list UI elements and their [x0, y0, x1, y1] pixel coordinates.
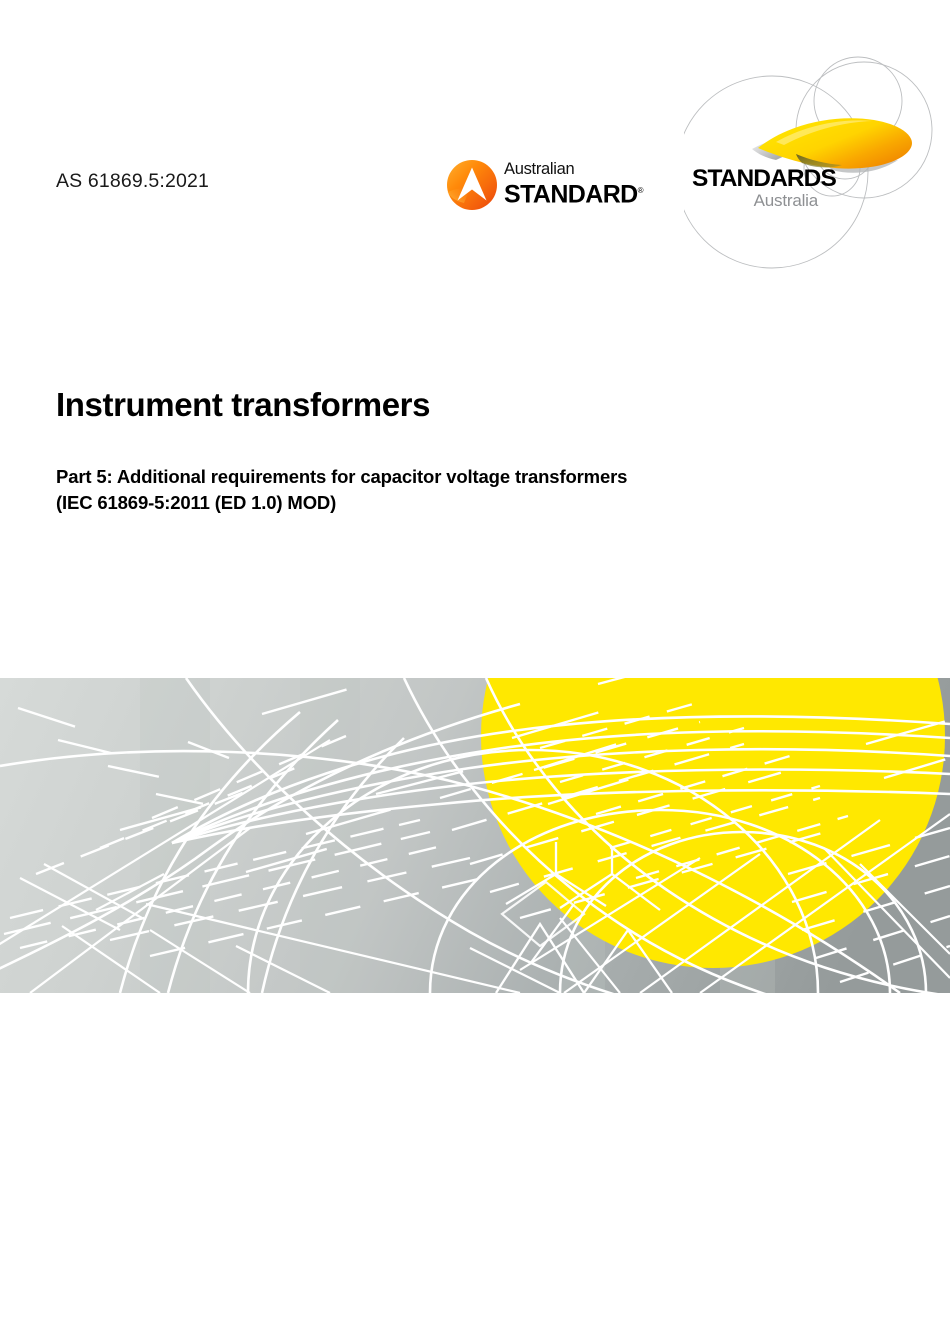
- page-title: Instrument transformers: [56, 386, 896, 424]
- standards-australia-word-top: STANDARDS: [692, 166, 832, 191]
- page-subtitle: Part 5: Additional requirements for capa…: [56, 424, 896, 516]
- page-header: AS 61869.5:2021: [0, 0, 950, 300]
- australian-standard-logo: Australian STANDARD®: [446, 159, 636, 213]
- banner-graphic-icon: [0, 678, 950, 993]
- standards-australia-logo: STANDARDS Australia: [684, 48, 950, 288]
- standards-australia-wordmark: STANDARDS Australia: [692, 166, 832, 210]
- cover-page: AS 61869.5:2021: [0, 0, 950, 1344]
- australian-standard-wordmark: Australian STANDARD®: [504, 160, 636, 207]
- australian-standard-roundel-icon: [446, 159, 498, 211]
- australian-standard-word-top: Australian: [504, 160, 636, 178]
- page-subtitle-line-2: (IEC 61869-5:2011 (ED 1.0) MOD): [56, 490, 896, 516]
- page-subtitle-line-1: Part 5: Additional requirements for capa…: [56, 464, 896, 490]
- title-block: Instrument transformers Part 5: Addition…: [56, 386, 896, 516]
- registered-trademark-icon: ®: [638, 186, 644, 195]
- australian-standard-word-bottom-text: STANDARD: [504, 180, 638, 208]
- cover-banner-artwork: [0, 678, 950, 993]
- australian-standard-word-bottom: STANDARD®: [504, 178, 636, 207]
- standards-australia-word-bottom: Australia: [692, 192, 818, 210]
- standard-designation: AS 61869.5:2021: [56, 170, 209, 193]
